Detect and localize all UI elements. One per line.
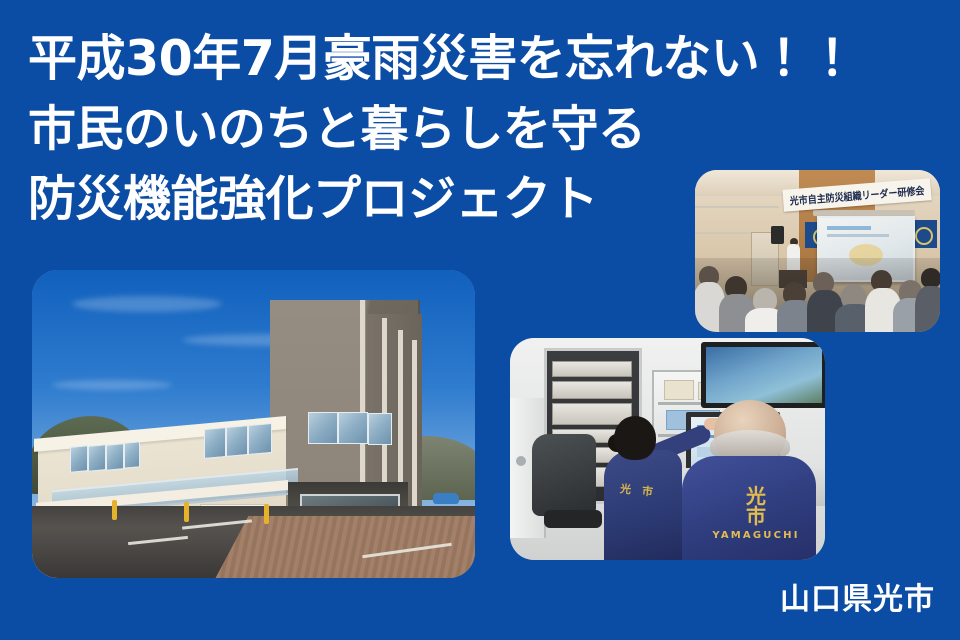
seminar-speaker-icon	[771, 226, 784, 244]
bollard	[184, 502, 189, 522]
window	[248, 423, 272, 455]
rack-unit	[552, 381, 632, 399]
window	[308, 412, 338, 444]
photo-control-room: 光 市 光 市 YAMAGUCHI	[510, 338, 825, 560]
photo-seminar: 光市自主防災組織リーダー研修会	[695, 170, 940, 332]
door-knob-icon	[516, 456, 526, 466]
seminar-slide-line-1	[827, 226, 871, 230]
page-title: 平成30年7月豪雨災害を忘れない！！ 市民のいのちと暮らしを守る 防災機能強化プ…	[28, 24, 728, 234]
parked-car	[433, 493, 459, 504]
seminar-scene: 光市自主防災組織リーダー研修会	[695, 170, 940, 332]
control-room-scene: 光 市 光 市 YAMAGUCHI	[510, 338, 825, 560]
poster-canvas: 平成30年7月豪雨災害を忘れない！！ 市民のいのちと暮らしを守る 防災機能強化プ…	[0, 0, 960, 640]
window	[124, 441, 140, 468]
rack-unit	[552, 361, 632, 377]
bollard	[112, 500, 117, 520]
photo-building	[32, 270, 475, 578]
window	[106, 443, 124, 471]
window	[70, 445, 88, 473]
bollard	[264, 504, 269, 524]
office-chair-base	[544, 510, 602, 528]
city-credit-label: 山口県光市	[780, 584, 935, 616]
audience-body	[915, 286, 940, 332]
cloud	[52, 380, 172, 390]
wall-monitor	[701, 342, 825, 408]
window	[368, 413, 392, 445]
cloud	[72, 296, 222, 312]
staff-member-seated	[604, 450, 682, 560]
window	[338, 412, 368, 444]
window	[226, 425, 248, 457]
uniform-romaji-text: YAMAGUCHI	[706, 531, 806, 541]
cabinet-box	[664, 380, 694, 400]
staff-hair	[614, 416, 656, 460]
headline-line-2: 市民のいのちと暮らしを守る	[28, 94, 728, 164]
window	[88, 444, 106, 472]
headline-line-1: 平成30年7月豪雨災害を忘れない！！	[28, 24, 728, 94]
office-chair	[532, 434, 596, 516]
uniform-kanji-text: 光 市	[706, 486, 806, 526]
audience-head	[921, 268, 940, 288]
window	[204, 427, 226, 459]
uniform-back-print: 光 市 YAMAGUCHI	[706, 486, 806, 541]
building-scene	[32, 270, 475, 578]
headline-line-3: 防災機能強化プロジェクト	[28, 164, 728, 234]
seminar-flag-emblem-right	[915, 227, 933, 245]
seminar-slide-line-2	[827, 234, 889, 237]
